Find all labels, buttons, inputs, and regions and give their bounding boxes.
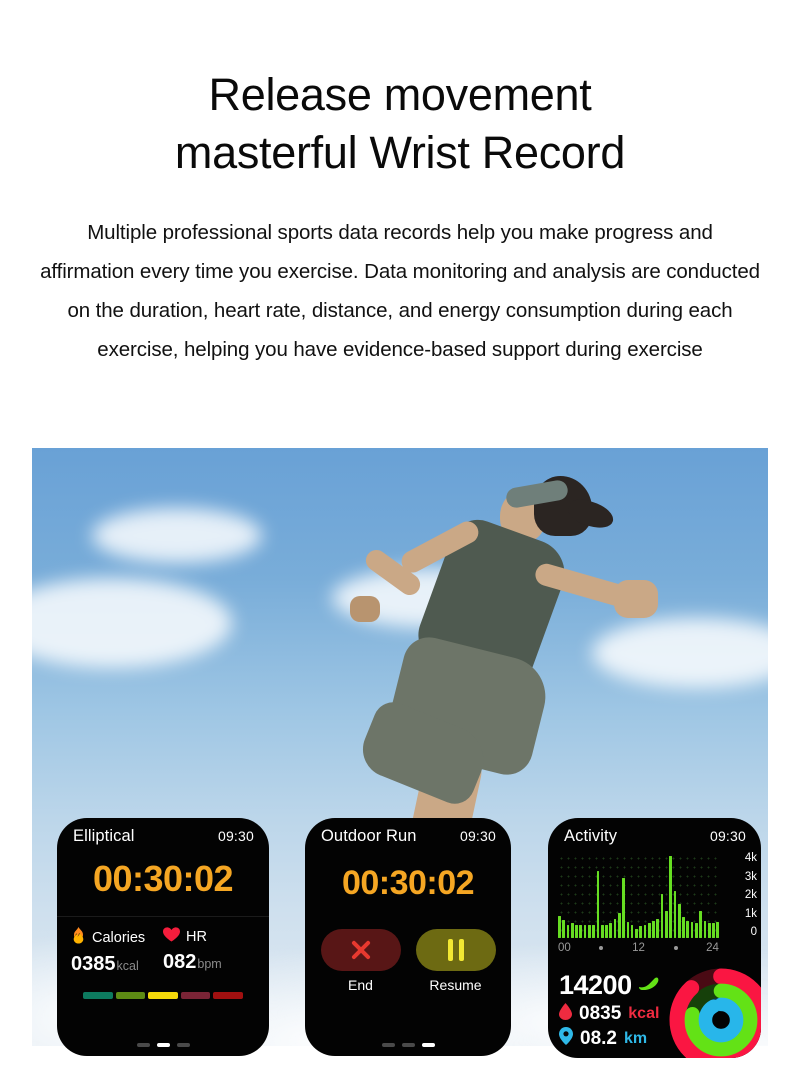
chart-bar bbox=[682, 917, 685, 938]
page-indicator[interactable] bbox=[57, 1043, 269, 1047]
calories-row: 0835 kcal bbox=[559, 1003, 659, 1025]
chart-bar bbox=[597, 871, 600, 938]
steps-value: 14200 bbox=[559, 970, 632, 1001]
watch-card-outdoor-run[interactable]: Outdoor Run 09:30 00:30:02 End Resume bbox=[305, 818, 511, 1056]
chart-bar bbox=[614, 919, 617, 938]
y-tick: 4k bbox=[721, 852, 757, 864]
chart-bar bbox=[704, 921, 707, 938]
headline-line-2: masterful Wrist Record bbox=[0, 124, 800, 182]
y-tick: 0 bbox=[721, 926, 757, 938]
headline-line-1: Release movement bbox=[209, 69, 592, 120]
y-tick: 3k bbox=[721, 871, 757, 883]
watch-header: Elliptical 09:30 bbox=[57, 818, 269, 846]
chart-bar bbox=[627, 922, 630, 938]
page-dot-active[interactable] bbox=[422, 1043, 435, 1047]
stand-ring bbox=[705, 1004, 736, 1035]
page-dot[interactable] bbox=[177, 1043, 190, 1047]
distance-row: 08.2 km bbox=[559, 1027, 659, 1050]
pause-icon bbox=[448, 939, 464, 961]
shoe-icon bbox=[638, 976, 659, 996]
chart-bar bbox=[584, 925, 587, 938]
flame-icon bbox=[71, 927, 86, 948]
chart-bar bbox=[601, 925, 604, 938]
chart-bar bbox=[609, 923, 612, 938]
chart-bar bbox=[635, 929, 638, 938]
hr-zone-segment bbox=[148, 992, 178, 999]
chart-bar bbox=[622, 878, 625, 938]
x-tick-dot bbox=[599, 946, 603, 950]
chart-bars bbox=[558, 854, 719, 938]
metric-calories: Calories 0385kcal bbox=[71, 927, 163, 976]
watch-header: Outdoor Run 09:30 bbox=[305, 818, 511, 846]
chart-bar bbox=[678, 904, 681, 938]
chart-plot-area bbox=[558, 854, 719, 938]
x-tick: 00 bbox=[558, 942, 571, 954]
y-tick: 2k bbox=[721, 889, 757, 901]
calories-unit: kcal bbox=[628, 1005, 659, 1023]
metric-heart-rate: HR 082bpm bbox=[163, 927, 255, 976]
end-button[interactable] bbox=[321, 929, 401, 971]
metric-unit: kcal bbox=[117, 959, 139, 973]
activity-rings bbox=[669, 968, 761, 1058]
cloud-shape bbox=[92, 508, 262, 563]
page-title: Release movement masterful Wrist Record bbox=[0, 66, 800, 182]
heart-icon bbox=[163, 927, 180, 946]
chart-bar bbox=[588, 925, 591, 938]
chart-bar bbox=[656, 919, 659, 938]
workout-title: Outdoor Run bbox=[321, 827, 417, 846]
metric-value: 082 bbox=[163, 951, 196, 973]
resume-control[interactable]: Resume bbox=[416, 929, 496, 993]
watch-header: Activity 09:30 bbox=[548, 818, 761, 846]
chart-bar bbox=[665, 911, 668, 938]
chart-bar bbox=[669, 856, 672, 938]
page-dot-active[interactable] bbox=[157, 1043, 170, 1047]
steps-row: 14200 bbox=[559, 970, 659, 1001]
page-indicator[interactable] bbox=[305, 1043, 511, 1047]
distance-value: 08.2 bbox=[580, 1028, 617, 1050]
activity-stats: 14200 0835 kcal 08.2 km bbox=[559, 970, 659, 1050]
chart-bar bbox=[605, 925, 608, 938]
chart-bar bbox=[674, 891, 677, 938]
chart-bar bbox=[567, 925, 570, 938]
resume-label: Resume bbox=[416, 977, 496, 993]
product-page: Release movement masterful Wrist Record … bbox=[0, 0, 800, 1083]
workout-controls: End Resume bbox=[305, 929, 511, 993]
hr-zone-segment bbox=[181, 992, 211, 999]
chart-bar bbox=[686, 921, 689, 938]
close-icon bbox=[349, 938, 373, 962]
chart-bar bbox=[699, 911, 702, 938]
workout-timer: 00:30:02 bbox=[305, 864, 511, 903]
chart-bar bbox=[691, 922, 694, 938]
hr-zone-segment bbox=[213, 992, 243, 999]
body-paragraph: Multiple professional sports data record… bbox=[40, 213, 760, 369]
clock-time: 09:30 bbox=[218, 828, 254, 844]
chart-bar bbox=[592, 925, 595, 938]
clock-time: 09:30 bbox=[460, 828, 496, 844]
page-dot[interactable] bbox=[382, 1043, 395, 1047]
chart-y-axis: 4k 3k 2k 1k 0 bbox=[721, 852, 757, 938]
metric-unit: bpm bbox=[197, 957, 221, 971]
distance-unit: km bbox=[624, 1030, 647, 1048]
x-tick: 12 bbox=[632, 942, 645, 954]
resume-button[interactable] bbox=[416, 929, 496, 971]
workout-timer: 00:30:02 bbox=[57, 858, 269, 900]
chart-bar bbox=[648, 923, 651, 938]
chart-bar bbox=[618, 913, 621, 938]
chart-bar bbox=[712, 923, 715, 938]
workout-title: Elliptical bbox=[73, 827, 135, 846]
chart-bar bbox=[639, 926, 642, 938]
metric-label: HR bbox=[186, 929, 207, 945]
metrics-row: Calories 0385kcal HR 082bpm bbox=[57, 917, 269, 976]
chart-bar bbox=[562, 920, 565, 938]
chart-bar bbox=[652, 921, 655, 938]
activity-bar-chart: 4k 3k 2k 1k 0 00 12 24 bbox=[548, 852, 761, 956]
blood-drop-icon bbox=[559, 1003, 572, 1025]
chart-bar bbox=[661, 894, 664, 938]
clock-time: 09:30 bbox=[710, 828, 746, 844]
watch-card-activity[interactable]: Activity 09:30 4k 3k 2k 1k 0 00 12 24 bbox=[548, 818, 761, 1058]
chart-bar bbox=[571, 923, 574, 938]
page-dot[interactable] bbox=[137, 1043, 150, 1047]
x-tick: 24 bbox=[706, 942, 719, 954]
watch-card-elliptical[interactable]: Elliptical 09:30 00:30:02 Calories 0385k… bbox=[57, 818, 269, 1056]
hr-zone-bar bbox=[83, 992, 243, 999]
chart-bar bbox=[558, 916, 561, 938]
cloud-shape bbox=[32, 578, 232, 668]
chart-bar bbox=[708, 923, 711, 938]
end-label: End bbox=[321, 977, 401, 993]
metric-label: Calories bbox=[92, 930, 145, 946]
metric-value: 0385 bbox=[71, 953, 116, 975]
workout-title: Activity bbox=[564, 827, 617, 846]
hr-zone-segment bbox=[116, 992, 146, 999]
x-tick-dot bbox=[674, 946, 678, 950]
calories-value: 0835 bbox=[579, 1003, 621, 1025]
chart-bar bbox=[644, 925, 647, 938]
location-pin-icon bbox=[559, 1027, 573, 1050]
chart-bar bbox=[575, 925, 578, 938]
chart-bar bbox=[579, 925, 582, 938]
chart-bar bbox=[716, 922, 719, 938]
chart-bar bbox=[695, 923, 698, 938]
chart-bar bbox=[631, 925, 634, 938]
end-control[interactable]: End bbox=[321, 929, 401, 993]
hr-zone-segment bbox=[83, 992, 113, 999]
chart-x-axis: 00 12 24 bbox=[558, 940, 719, 956]
y-tick: 1k bbox=[721, 908, 757, 920]
page-dot[interactable] bbox=[402, 1043, 415, 1047]
